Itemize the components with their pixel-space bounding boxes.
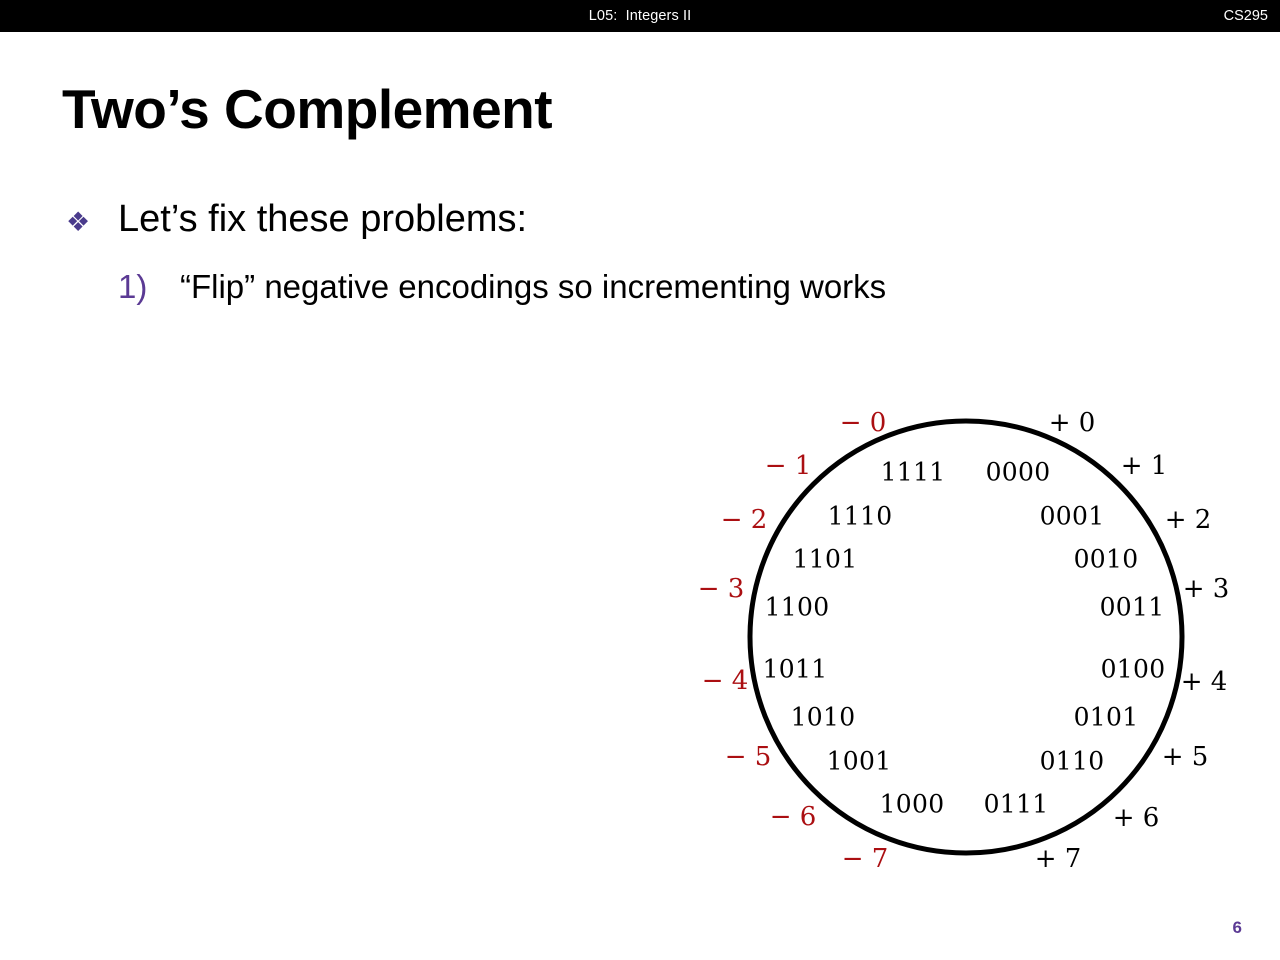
course-code-label: CS295 xyxy=(1224,0,1268,32)
binary-code-label: 0001 xyxy=(1040,504,1105,529)
binary-code-label: 0110 xyxy=(1040,749,1105,774)
binary-code-label: 1111 xyxy=(881,460,946,485)
binary-code-label: 1011 xyxy=(763,657,828,682)
negative-value-label: − 7 xyxy=(842,846,889,872)
binary-code-label: 0111 xyxy=(984,792,1049,817)
binary-code-label: 1100 xyxy=(765,595,830,620)
binary-code-label: 1101 xyxy=(793,547,858,572)
positive-value-label: + 6 xyxy=(1113,805,1160,831)
negative-value-label: − 6 xyxy=(770,804,817,830)
list-number-marker: 1) xyxy=(118,270,180,303)
number-circle-outline xyxy=(750,421,1182,853)
negative-value-label: − 3 xyxy=(698,576,745,602)
positive-value-label: + 5 xyxy=(1162,744,1209,770)
binary-code-label: 1001 xyxy=(827,749,892,774)
bullet-item-level1: ❖ Let’s fix these problems: xyxy=(66,200,527,240)
positive-value-label: + 3 xyxy=(1183,576,1230,602)
positive-value-label: + 2 xyxy=(1165,507,1212,533)
negative-value-label: − 1 xyxy=(765,453,812,479)
positive-value-label: + 7 xyxy=(1035,846,1082,872)
negative-value-label: − 5 xyxy=(725,744,772,770)
diamond-bullet-icon: ❖ xyxy=(66,209,118,236)
positive-value-label: + 0 xyxy=(1049,410,1096,436)
negative-value-label: − 0 xyxy=(840,410,887,436)
binary-code-label: 0000 xyxy=(986,460,1051,485)
binary-code-label: 0011 xyxy=(1100,595,1165,620)
positive-value-label: + 4 xyxy=(1181,669,1228,695)
negative-value-label: − 4 xyxy=(702,668,749,694)
bullet-level1-label: Let’s fix these problems: xyxy=(118,200,527,240)
bullet-item-level2: 1) “Flip” negative encodings so incremen… xyxy=(118,270,886,305)
positive-value-label: + 1 xyxy=(1121,453,1168,479)
negative-value-label: − 2 xyxy=(721,507,768,533)
page-number-label: 6 xyxy=(1233,918,1242,938)
binary-code-label: 1000 xyxy=(880,792,945,817)
page-title: Two’s Complement xyxy=(62,77,552,141)
binary-code-label: 0010 xyxy=(1074,547,1139,572)
binary-code-label: 0101 xyxy=(1074,705,1139,730)
number-circle-svg xyxy=(660,390,1260,890)
binary-code-label: 0100 xyxy=(1101,657,1166,682)
twos-complement-number-circle-diagram: 0000000100100011010001010110011110001001… xyxy=(660,390,1260,890)
slide-header-bar: L05: Integers II CS295 xyxy=(0,0,1280,32)
lecture-title-label: L05: Integers II xyxy=(0,0,1280,32)
binary-code-label: 1010 xyxy=(791,705,856,730)
binary-code-label: 1110 xyxy=(828,504,893,529)
bullet-level2-label: “Flip” negative encodings so incrementin… xyxy=(180,270,886,305)
